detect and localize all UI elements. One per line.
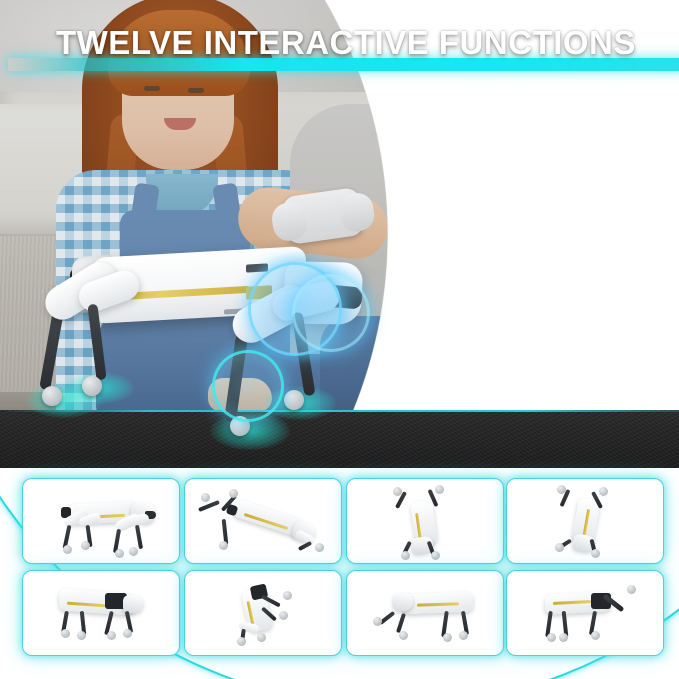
robot-pose-bow-stretch xyxy=(185,479,341,563)
man-foot xyxy=(536,362,610,398)
robot-glow-ring-3 xyxy=(212,350,284,422)
robot-pose-standing xyxy=(23,479,179,563)
robot-dog-main xyxy=(34,246,394,456)
page-title: TWELVE INTERACTIVE FUNCTIONS xyxy=(56,24,636,62)
girl-eye-left xyxy=(144,86,160,91)
robot-pose-handstand-back xyxy=(507,479,663,563)
robot-pose-paw-reach xyxy=(347,571,503,655)
thumbnail-2[interactable] xyxy=(184,478,342,564)
product-poster: TWELVE INTERACTIVE FUNCTIONS xyxy=(0,0,679,679)
thumbnail-5[interactable] xyxy=(22,570,180,656)
game-controller-man xyxy=(520,138,598,191)
thumbnail-grid xyxy=(0,468,679,679)
title-block: TWELVE INTERACTIVE FUNCTIONS xyxy=(0,24,679,74)
robot-glow-ring-2 xyxy=(292,274,370,352)
robot-pose-back-leg-lift xyxy=(507,571,663,655)
thumbnail-8[interactable] xyxy=(506,570,664,656)
robot-shin-1 xyxy=(39,310,64,391)
thumbnail-6[interactable] xyxy=(184,570,342,656)
robot-foot-1 xyxy=(42,386,62,406)
thumbnail-1[interactable] xyxy=(22,478,180,564)
robot-foot-4 xyxy=(284,390,304,410)
thumbnail-3[interactable] xyxy=(346,478,504,564)
robot-pose-sit-up-beg xyxy=(185,571,341,655)
robot-pose-lying-down xyxy=(23,571,179,655)
robot-foot-2 xyxy=(82,376,102,396)
thumbnail-4[interactable] xyxy=(506,478,664,564)
thumbnail-7[interactable] xyxy=(346,570,504,656)
girl-eye-right xyxy=(188,88,204,93)
robot-pose-handstand-front xyxy=(347,479,503,563)
